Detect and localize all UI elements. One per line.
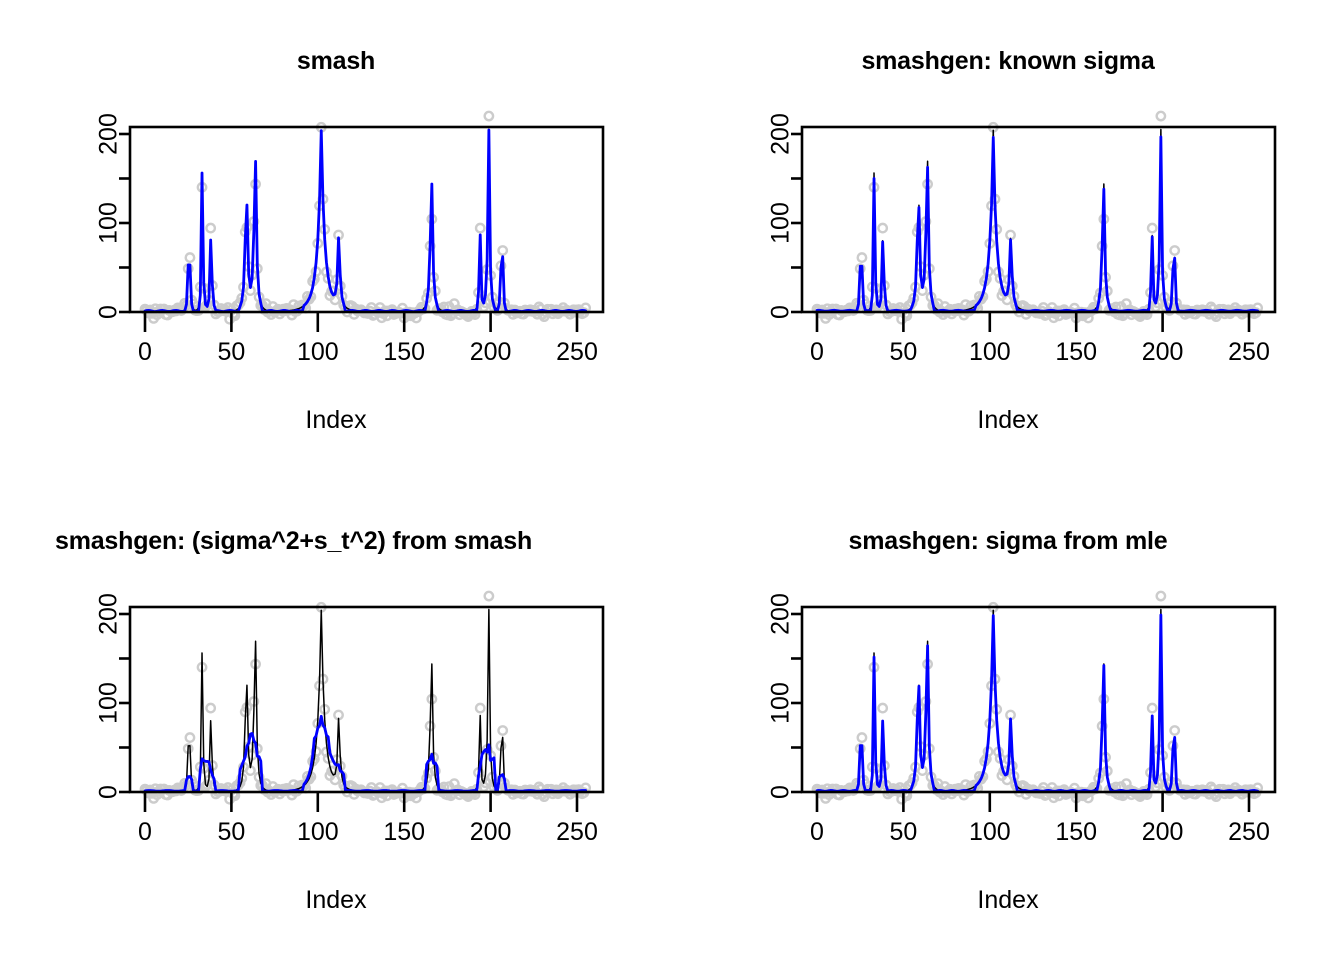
y-tick-label: 0 — [767, 785, 795, 799]
y-tick-label: 100 — [95, 202, 123, 244]
plot-panel-smashgen-sigma-from-mle: smashgen: sigma from mle 010020005010015… — [672, 480, 1344, 960]
x-tick-label: 0 — [138, 338, 152, 366]
x-tick-label: 150 — [1055, 338, 1097, 366]
x-tick-label: 50 — [889, 818, 917, 846]
plot-grid: smash 0100200050100150200250 Index smash… — [0, 0, 1344, 960]
y-tick-label: 0 — [95, 305, 123, 319]
x-tick-label: 0 — [138, 818, 152, 846]
x-tick-label: 0 — [810, 818, 824, 846]
x-tick-label: 250 — [556, 818, 598, 846]
x-tick-label: 250 — [1228, 818, 1270, 846]
x-axis: 050100150200250 — [138, 792, 598, 846]
x-tick-label: 0 — [810, 338, 824, 366]
observed-points-layer — [141, 592, 590, 804]
x-axis-label: Index — [0, 405, 672, 435]
x-tick-label: 150 — [1055, 818, 1097, 846]
x-tick-label: 100 — [297, 818, 339, 846]
x-tick-label: 200 — [470, 818, 512, 846]
y-axis: 0100200 — [95, 593, 130, 799]
x-tick-label: 100 — [297, 338, 339, 366]
plot-panel-smashgen-known-sigma: smashgen: known sigma 010020005010015020… — [672, 0, 1344, 480]
true-signal-line — [145, 610, 586, 792]
x-axis-label: Index — [0, 885, 672, 915]
y-tick-label: 200 — [767, 593, 795, 635]
x-tick-label: 50 — [217, 818, 245, 846]
x-tick-label: 250 — [556, 338, 598, 366]
y-tick-label: 100 — [767, 682, 795, 724]
x-axis-label: Index — [672, 885, 1344, 915]
y-tick-label: 0 — [95, 785, 123, 799]
estimate-line — [145, 130, 586, 311]
y-tick-label: 200 — [95, 113, 123, 155]
x-axis-label: Index — [672, 405, 1344, 435]
x-tick-label: 50 — [889, 338, 917, 366]
y-axis: 0100200 — [767, 593, 802, 799]
plot-panel-smashgen-variance-from-smash: smashgen: (sigma^2+s_t^2) from smash 010… — [0, 480, 672, 960]
y-tick-label: 200 — [95, 593, 123, 635]
x-tick-label: 200 — [1142, 818, 1184, 846]
x-tick-label: 150 — [383, 338, 425, 366]
x-tick-label: 200 — [1142, 338, 1184, 366]
x-axis: 050100150200250 — [810, 792, 1270, 846]
plot-panel-smash: smash 0100200050100150200250 Index — [0, 0, 672, 480]
x-tick-label: 150 — [383, 818, 425, 846]
x-axis: 050100150200250 — [810, 312, 1270, 366]
y-tick-label: 100 — [767, 202, 795, 244]
y-axis: 0100200 — [767, 113, 802, 319]
x-axis: 050100150200250 — [138, 312, 598, 366]
x-tick-label: 100 — [969, 818, 1011, 846]
x-tick-label: 50 — [217, 338, 245, 366]
y-tick-label: 0 — [767, 305, 795, 319]
x-tick-label: 100 — [969, 338, 1011, 366]
y-tick-label: 100 — [95, 682, 123, 724]
x-tick-label: 200 — [470, 338, 512, 366]
x-tick-label: 250 — [1228, 338, 1270, 366]
y-axis: 0100200 — [95, 113, 130, 319]
y-tick-label: 200 — [767, 113, 795, 155]
